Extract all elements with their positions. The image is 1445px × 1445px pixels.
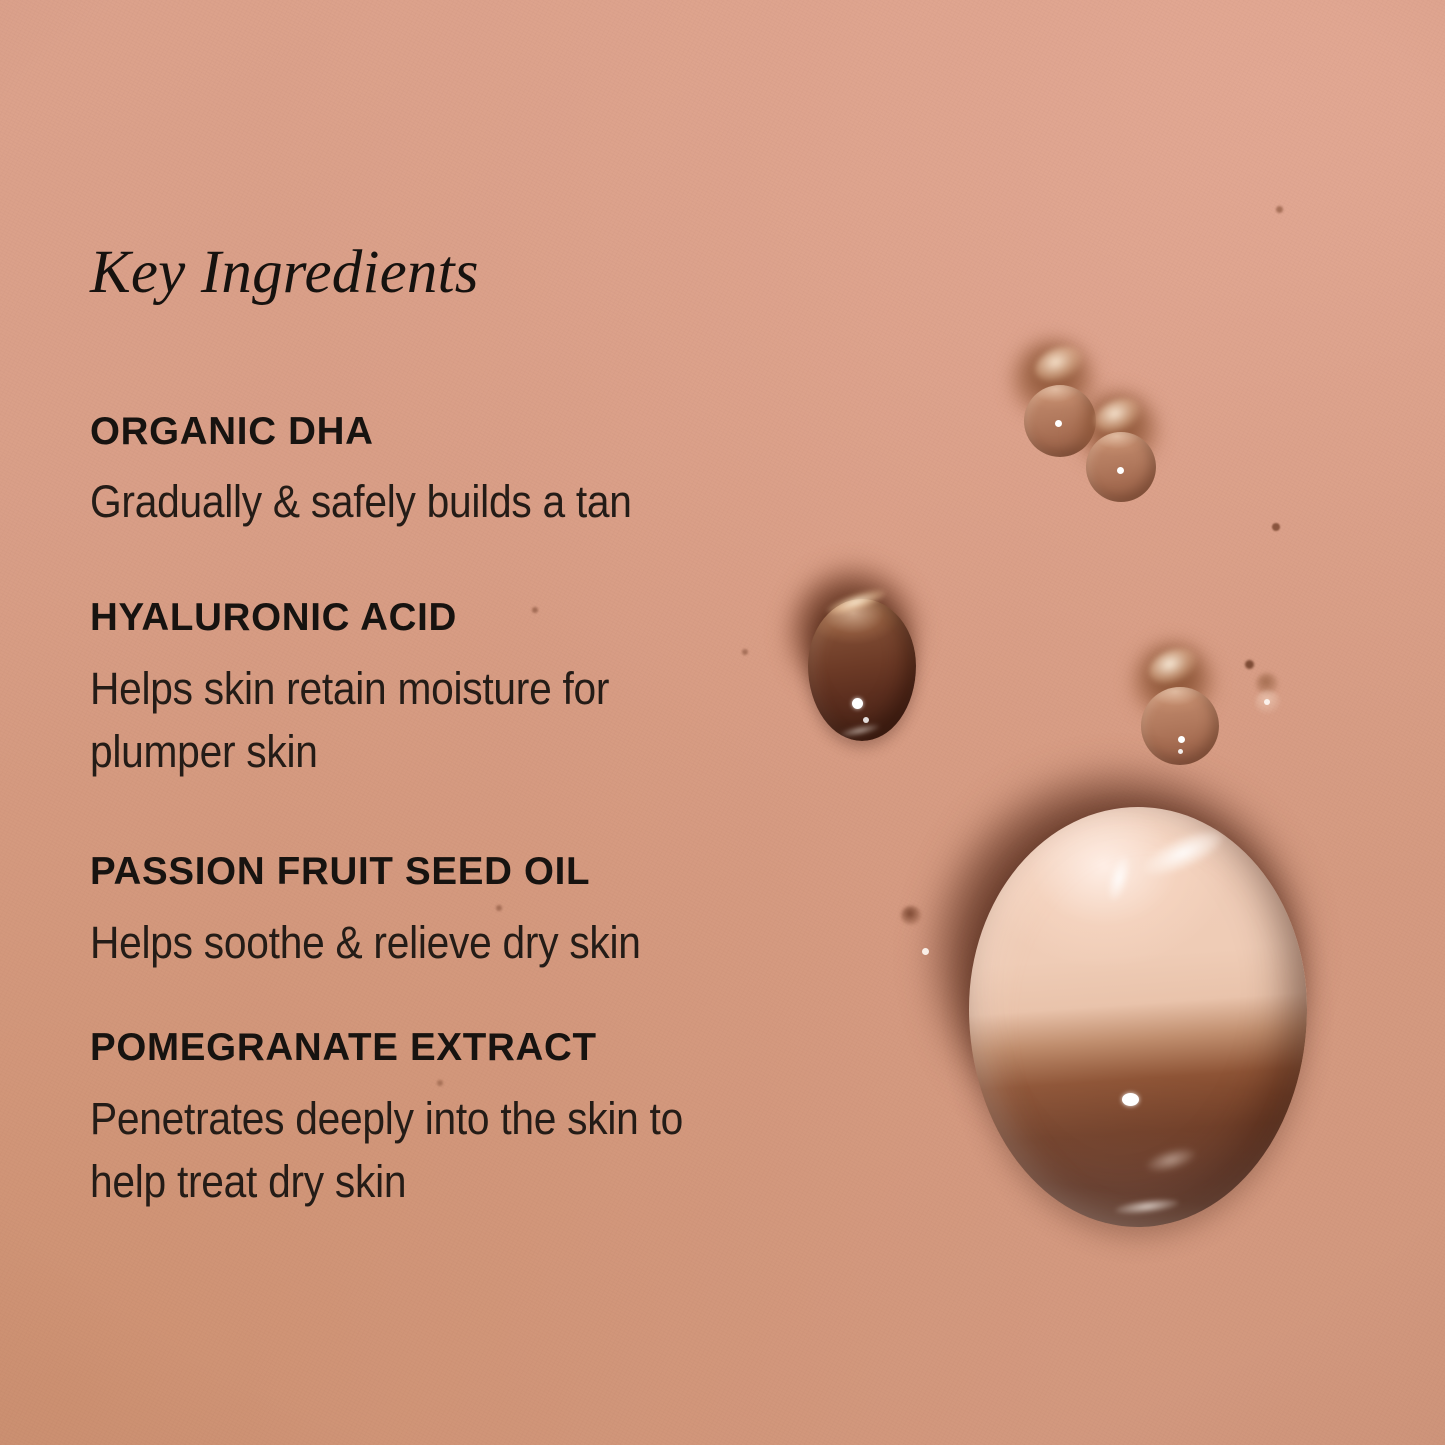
small-droplet-right-specular bbox=[1178, 736, 1185, 743]
ingredient-description-line: Gradually & safely builds a tan bbox=[90, 470, 796, 533]
ingredient-item: ORGANIC DHA Gradually & safely builds a … bbox=[90, 412, 870, 533]
ingredient-description-line: plumper skin bbox=[90, 720, 796, 783]
key-ingredients-panel: Key Ingredients ORGANIC DHA Gradually & … bbox=[0, 0, 1445, 1445]
ingredient-description-line: Helps soothe & relieve dry skin bbox=[90, 911, 796, 974]
page-title: Key Ingredients bbox=[90, 242, 479, 303]
ingredient-description-line: Penetrates deeply into the skin to bbox=[90, 1087, 796, 1150]
background-speck bbox=[1276, 206, 1283, 213]
ingredient-name: POMEGRANATE EXTRACT bbox=[90, 1028, 870, 1068]
ingredient-item: PASSION FRUIT SEED OIL Helps soothe & re… bbox=[90, 852, 870, 974]
small-droplet-right-specular-2 bbox=[1178, 749, 1183, 754]
ingredient-item: HYALURONIC ACID Helps skin retain moistu… bbox=[90, 598, 870, 783]
ingredient-item: POMEGRANATE EXTRACT Penetrates deeply in… bbox=[90, 1028, 870, 1213]
ingredient-name: ORGANIC DHA bbox=[90, 412, 870, 452]
ingredient-description: Helps skin retain moisture for plumper s… bbox=[90, 657, 796, 783]
small-droplet-upper-specular bbox=[1055, 420, 1062, 427]
background-speck bbox=[901, 906, 921, 925]
ingredient-description: Helps soothe & relieve dry skin bbox=[90, 911, 796, 974]
ingredient-description: Penetrates deeply into the skin to help … bbox=[90, 1087, 796, 1213]
ingredient-description: Gradually & safely builds a tan bbox=[90, 470, 796, 533]
background-speck bbox=[1245, 660, 1254, 669]
ingredient-name: HYALURONIC ACID bbox=[90, 598, 870, 638]
ingredient-description-line: help treat dry skin bbox=[90, 1150, 796, 1213]
large-droplet-rim-light bbox=[969, 807, 1307, 1227]
ingredients-text-column: Key Ingredients ORGANIC DHA Gradually & … bbox=[90, 0, 870, 1445]
background-speck bbox=[1264, 699, 1270, 705]
ingredient-description-line: Helps skin retain moisture for bbox=[90, 657, 796, 720]
ingredient-name: PASSION FRUIT SEED OIL bbox=[90, 852, 870, 892]
background-speck bbox=[922, 948, 929, 955]
small-droplet-upper-2-specular bbox=[1117, 467, 1124, 474]
large-droplet-specular-point bbox=[1122, 1093, 1139, 1106]
background-speck bbox=[1272, 523, 1280, 531]
